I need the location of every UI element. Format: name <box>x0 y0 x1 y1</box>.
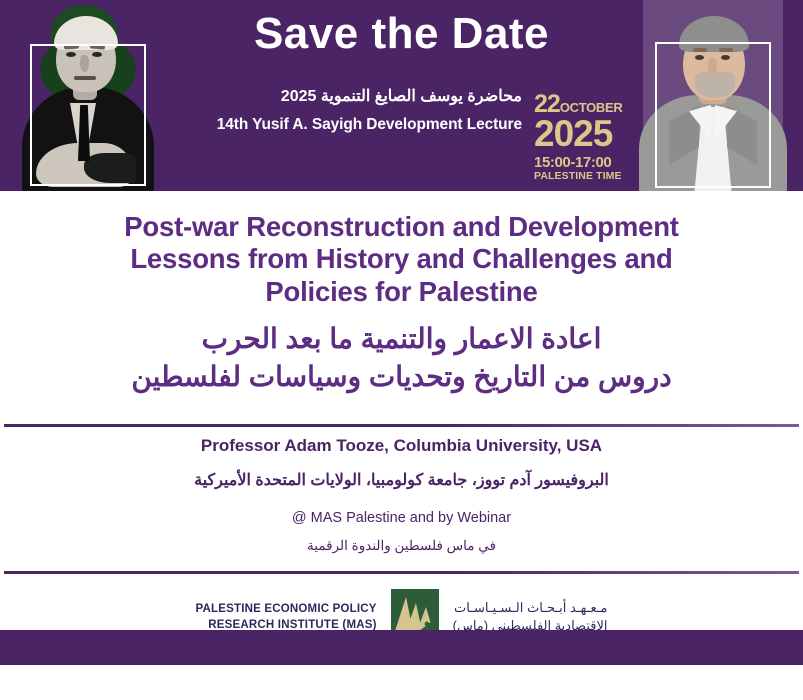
portrait-left-frame <box>30 44 146 186</box>
institute-name-english: PALESTINE ECONOMIC POLICY RESEARCH INSTI… <box>196 601 389 634</box>
venue-arabic: في ماس فلسطين والندوة الرقمية <box>0 538 803 554</box>
divider-bottom <box>4 571 799 574</box>
lecture-title-english: Post-war Reconstruction and Development … <box>0 211 803 308</box>
divider-top <box>4 424 799 427</box>
poster-body: Post-war Reconstruction and Development … <box>0 191 803 665</box>
event-date-block: 22OCTOBER 2025 15:00-17:00 PALESTINE TIM… <box>534 92 638 182</box>
lecture-title-block: Post-war Reconstruction and Development … <box>0 191 803 395</box>
event-time: 15:00-17:00 <box>534 155 638 171</box>
lecture-name-block: محاضرة يوسف الصايغ التنموية 2025 14th Yu… <box>150 86 522 134</box>
portrait-adam-tooze <box>643 0 783 191</box>
lecture-title-english-line1: Post-war Reconstruction and Development <box>32 211 771 243</box>
lecture-title-arabic: اعادة الاعمار والتنمية ما بعد الحرب دروس… <box>0 320 803 395</box>
speaker-name-english: Professor Adam Tooze, Columbia Universit… <box>0 436 803 456</box>
lecture-title-english-line2: Lessons from History and Challenges and <box>32 243 771 275</box>
lecture-name-arabic: محاضرة يوسف الصايغ التنموية 2025 <box>150 86 522 108</box>
institute-name-english-line1: PALESTINE ECONOMIC POLICY <box>196 601 377 617</box>
lecture-title-english-line3: Policies for Palestine <box>32 276 771 308</box>
lecture-name-english: 14th Yusif A. Sayigh Development Lecture <box>150 116 522 134</box>
lecture-title-arabic-line2: دروس من التاريخ وتحديات وسياسات لفلسطين <box>40 358 763 396</box>
institute-name-arabic-line1: مـعـهـد أبـحـاث الـسـيـاسـات <box>453 599 608 617</box>
speaker-block: Professor Adam Tooze, Columbia Universit… <box>0 436 803 554</box>
bottom-bar <box>0 630 803 665</box>
header-banner: Save the Date محاضرة يوسف الصايغ التنموي… <box>0 0 803 191</box>
speaker-name-arabic: البروفيسور آدم تووز، جامعة كولومبيا، الو… <box>0 470 803 490</box>
lecture-title-arabic-line1: اعادة الاعمار والتنمية ما بعد الحرب <box>40 320 763 358</box>
event-timezone: PALESTINE TIME <box>534 170 638 182</box>
venue-english: @ MAS Palestine and by Webinar <box>0 510 803 526</box>
event-year: 2025 <box>534 116 638 152</box>
portrait-right-frame <box>655 42 771 188</box>
